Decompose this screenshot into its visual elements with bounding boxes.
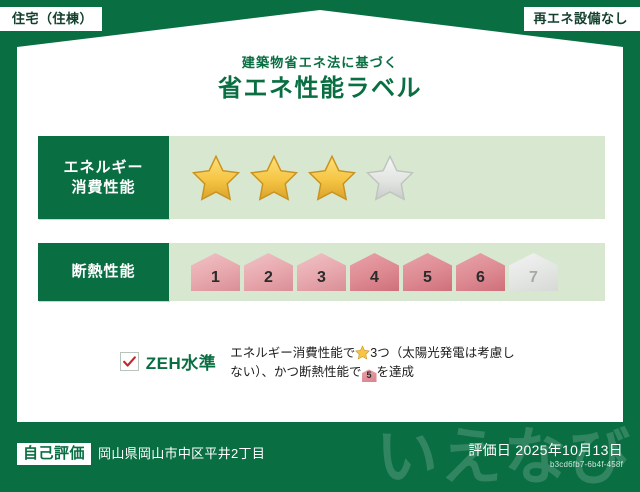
self-evaluation-group: 自己評価 岡山県岡山市中区平井2丁目 (17, 443, 265, 465)
renewable-equipment-tag: 再エネ設備なし (524, 7, 640, 31)
zeh-mark: ZEH水準 (120, 344, 217, 374)
zeh-standard-block: ZEH水準 エネルギー消費性能で3つ（太陽光発電は考慮しない）、かつ断熱性能で5… (0, 344, 640, 383)
insulation-badge-4: 4 (350, 253, 399, 291)
insulation-badge-2: 2 (244, 253, 293, 291)
insulation-badge-3: 3 (297, 253, 346, 291)
footer-bar: 自己評価 岡山県岡山市中区平井2丁目 評価日 2025年10月13日 b3cd6… (0, 422, 640, 479)
zeh-label: ZEH水準 (146, 349, 217, 374)
zeh-desc-star-count: 3つ（太陽光発電 (370, 346, 464, 360)
energy-star-rating (169, 136, 605, 219)
star-icon-inline (355, 345, 370, 360)
star-icon-filled-3 (307, 153, 357, 203)
insulation-badge-7: 7 (509, 253, 558, 291)
property-address: 岡山県岡山市中区平井2丁目 (98, 443, 265, 462)
insulation-badge-5: 5 (403, 253, 452, 291)
title-subline: 建築物省エネ法に基づく (0, 56, 640, 70)
insulation-label-line1: 断熱性能 (71, 262, 135, 282)
evaluation-meta-group: 評価日 2025年10月13日 b3cd6fb7-6b4f-458f (468, 442, 623, 469)
zeh-desc-part1: エネルギー消費性能で (230, 346, 355, 360)
star-icon-filled-2 (249, 153, 299, 203)
energy-performance-label-box: エネルギー 消費性能 (38, 136, 169, 219)
zeh-desc-part3: を達成 (377, 365, 415, 379)
energy-label-line2: 消費性能 (71, 178, 135, 198)
checkbox-checked-icon (120, 352, 139, 371)
insulation-badge-6: 6 (456, 253, 505, 291)
evaluation-id: b3cd6fb7-6b4f-458f (468, 460, 623, 469)
insulation-performance-row: 断熱性能 1 2 3 4 5 6 7 (38, 243, 605, 301)
building-type-tag: 住宅（住棟） (0, 7, 102, 31)
energy-performance-row: エネルギー 消費性能 (38, 136, 605, 219)
insulation-badge-inline: 5 (362, 369, 377, 382)
star-icon-empty-4 (365, 153, 415, 203)
title-mainline: 省エネ性能ラベル (0, 76, 640, 102)
insulation-performance-label-box: 断熱性能 (38, 243, 169, 301)
energy-label-line1: エネルギー (63, 158, 143, 178)
evaluation-date: 評価日 2025年10月13日 (468, 442, 623, 459)
zeh-description: エネルギー消費性能で3つ（太陽光発電は考慮しない）、かつ断熱性能で5を達成 (230, 344, 520, 383)
self-evaluation-badge: 自己評価 (17, 443, 91, 465)
insulation-badge-scale: 1 2 3 4 5 6 7 (169, 243, 605, 301)
page-title: 建築物省エネ法に基づく 省エネ性能ラベル (0, 56, 640, 103)
insulation-badge-1: 1 (191, 253, 240, 291)
star-icon-filled-1 (191, 153, 241, 203)
energy-performance-label: 住宅（住棟） 再エネ設備なし 建築物省エネ法に基づく 省エネ性能ラベル エネルギ… (0, 0, 640, 479)
